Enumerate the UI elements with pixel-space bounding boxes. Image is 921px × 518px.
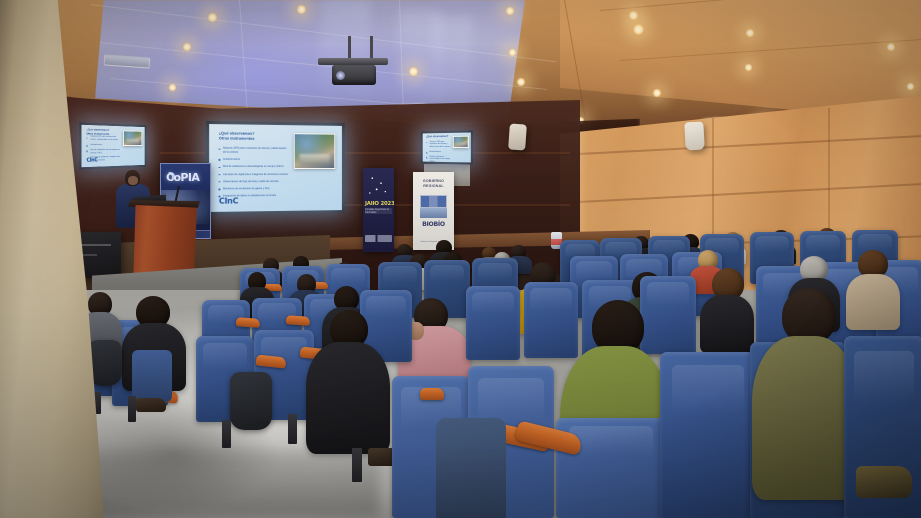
auditorium-seat[interactable] xyxy=(660,352,756,518)
seat-leg xyxy=(288,414,297,444)
audience-member-khaki-jacket xyxy=(752,288,858,494)
person-legs xyxy=(436,418,506,518)
audience-member-jeans xyxy=(436,418,506,518)
seat-leg xyxy=(352,448,362,482)
person-shoulders xyxy=(752,336,858,500)
wooden-armrest xyxy=(420,388,444,400)
audience-member-dark-coat xyxy=(306,310,390,452)
person-shoulders xyxy=(700,295,754,353)
seat-leg xyxy=(222,420,231,448)
backpack-on-floor xyxy=(230,372,272,430)
auditorium-seat[interactable] xyxy=(466,286,520,360)
person-legs xyxy=(132,350,172,402)
audience-member xyxy=(700,268,754,348)
tiered-auditorium-seating xyxy=(0,0,921,518)
person-shoe xyxy=(856,466,912,498)
auditorium-scene: ¿Qué observamos? Otros instrumentos Sist… xyxy=(0,0,921,518)
person-shoulders xyxy=(306,342,390,454)
seat-leg xyxy=(128,396,136,422)
person-shoe xyxy=(136,398,166,412)
wooden-armrest xyxy=(236,317,261,328)
